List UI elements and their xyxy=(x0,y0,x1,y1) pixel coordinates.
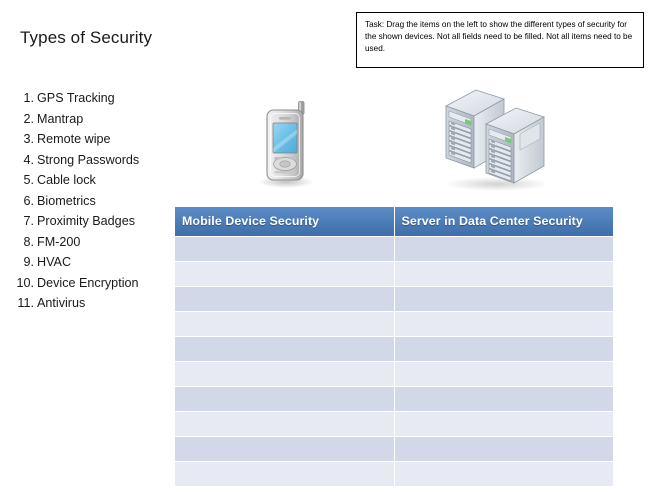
list-item[interactable]: 8. FM-200 xyxy=(8,232,198,253)
table-row[interactable] xyxy=(175,287,613,311)
list-item[interactable]: 5. Cable lock xyxy=(8,170,198,191)
drop-cell-mobile[interactable] xyxy=(175,312,394,336)
table-row[interactable] xyxy=(175,387,613,411)
list-item[interactable]: 11. Antivirus xyxy=(8,293,198,314)
list-item-label: FM-200 xyxy=(37,232,80,253)
table-row[interactable] xyxy=(175,237,613,261)
slide-canvas: Types of Security Task: Drag the items o… xyxy=(0,0,656,492)
list-item[interactable]: 9. HVAC xyxy=(8,252,198,273)
table-row[interactable] xyxy=(175,362,613,386)
drop-cell-server[interactable] xyxy=(395,237,614,261)
column-header-server-data-center-security: Server in Data Center Security xyxy=(395,207,614,236)
table-header-row: Mobile Device Security Server in Data Ce… xyxy=(175,207,613,236)
table-row[interactable] xyxy=(175,312,613,336)
table-row[interactable] xyxy=(175,412,613,436)
drop-cell-server[interactable] xyxy=(395,387,614,411)
drop-cell-mobile[interactable] xyxy=(175,387,394,411)
drop-cell-mobile[interactable] xyxy=(175,462,394,486)
list-item-number: 3. xyxy=(8,129,37,150)
drop-cell-server[interactable] xyxy=(395,287,614,311)
list-item[interactable]: 10. Device Encryption xyxy=(8,273,198,294)
task-instruction-text: Task: Drag the items on the left to show… xyxy=(365,19,636,56)
drop-cell-mobile[interactable] xyxy=(175,437,394,461)
list-item[interactable]: 7. Proximity Badges xyxy=(8,211,198,232)
drop-cell-mobile[interactable] xyxy=(175,237,394,261)
list-item-label: Remote wipe xyxy=(37,129,111,150)
security-items-list: 1. GPS Tracking 2. Mantrap 3. Remote wip… xyxy=(8,88,198,314)
table-row[interactable] xyxy=(175,437,613,461)
list-item-number: 2. xyxy=(8,109,37,130)
drop-cell-server[interactable] xyxy=(395,412,614,436)
list-item-number: 10. xyxy=(8,273,37,294)
server-rack-image xyxy=(434,84,560,192)
drop-cell-mobile[interactable] xyxy=(175,262,394,286)
list-item-number: 9. xyxy=(8,252,37,273)
drop-cell-server[interactable] xyxy=(395,337,614,361)
list-item-label: Cable lock xyxy=(37,170,96,191)
list-item-number: 5. xyxy=(8,170,37,191)
drop-cell-server[interactable] xyxy=(395,462,614,486)
page-title: Types of Security xyxy=(20,28,152,48)
list-item-number: 7. xyxy=(8,211,37,232)
drop-cell-server[interactable] xyxy=(395,362,614,386)
list-item-number: 11. xyxy=(8,293,37,314)
list-item-label: Device Encryption xyxy=(37,273,139,294)
list-item[interactable]: 4. Strong Passwords xyxy=(8,150,198,171)
list-item-label: GPS Tracking xyxy=(37,88,115,109)
drop-cell-mobile[interactable] xyxy=(175,337,394,361)
list-item-label: Proximity Badges xyxy=(37,211,135,232)
security-answer-table: Mobile Device Security Server in Data Ce… xyxy=(174,206,614,487)
drop-cell-server[interactable] xyxy=(395,262,614,286)
list-item[interactable]: 3. Remote wipe xyxy=(8,129,198,150)
mobile-device-image xyxy=(246,96,332,192)
list-item-label: Biometrics xyxy=(37,191,96,212)
list-item-number: 8. xyxy=(8,232,37,253)
drop-cell-mobile[interactable] xyxy=(175,287,394,311)
drop-cell-server[interactable] xyxy=(395,312,614,336)
list-item-label: Antivirus xyxy=(37,293,85,314)
table-row[interactable] xyxy=(175,462,613,486)
list-item-label: Strong Passwords xyxy=(37,150,139,171)
list-item-number: 6. xyxy=(8,191,37,212)
list-item-label: HVAC xyxy=(37,252,71,273)
list-item[interactable]: 1. GPS Tracking xyxy=(8,88,198,109)
column-header-mobile-device-security: Mobile Device Security xyxy=(175,207,394,236)
table-row[interactable] xyxy=(175,337,613,361)
table-row[interactable] xyxy=(175,262,613,286)
drop-cell-server[interactable] xyxy=(395,437,614,461)
list-item[interactable]: 6. Biometrics xyxy=(8,191,198,212)
drop-cell-mobile[interactable] xyxy=(175,362,394,386)
list-item-number: 1. xyxy=(8,88,37,109)
task-instruction-box: Task: Drag the items on the left to show… xyxy=(356,12,644,68)
list-item[interactable]: 2. Mantrap xyxy=(8,109,198,130)
list-item-label: Mantrap xyxy=(37,109,83,130)
list-item-number: 4. xyxy=(8,150,37,171)
drop-cell-mobile[interactable] xyxy=(175,412,394,436)
